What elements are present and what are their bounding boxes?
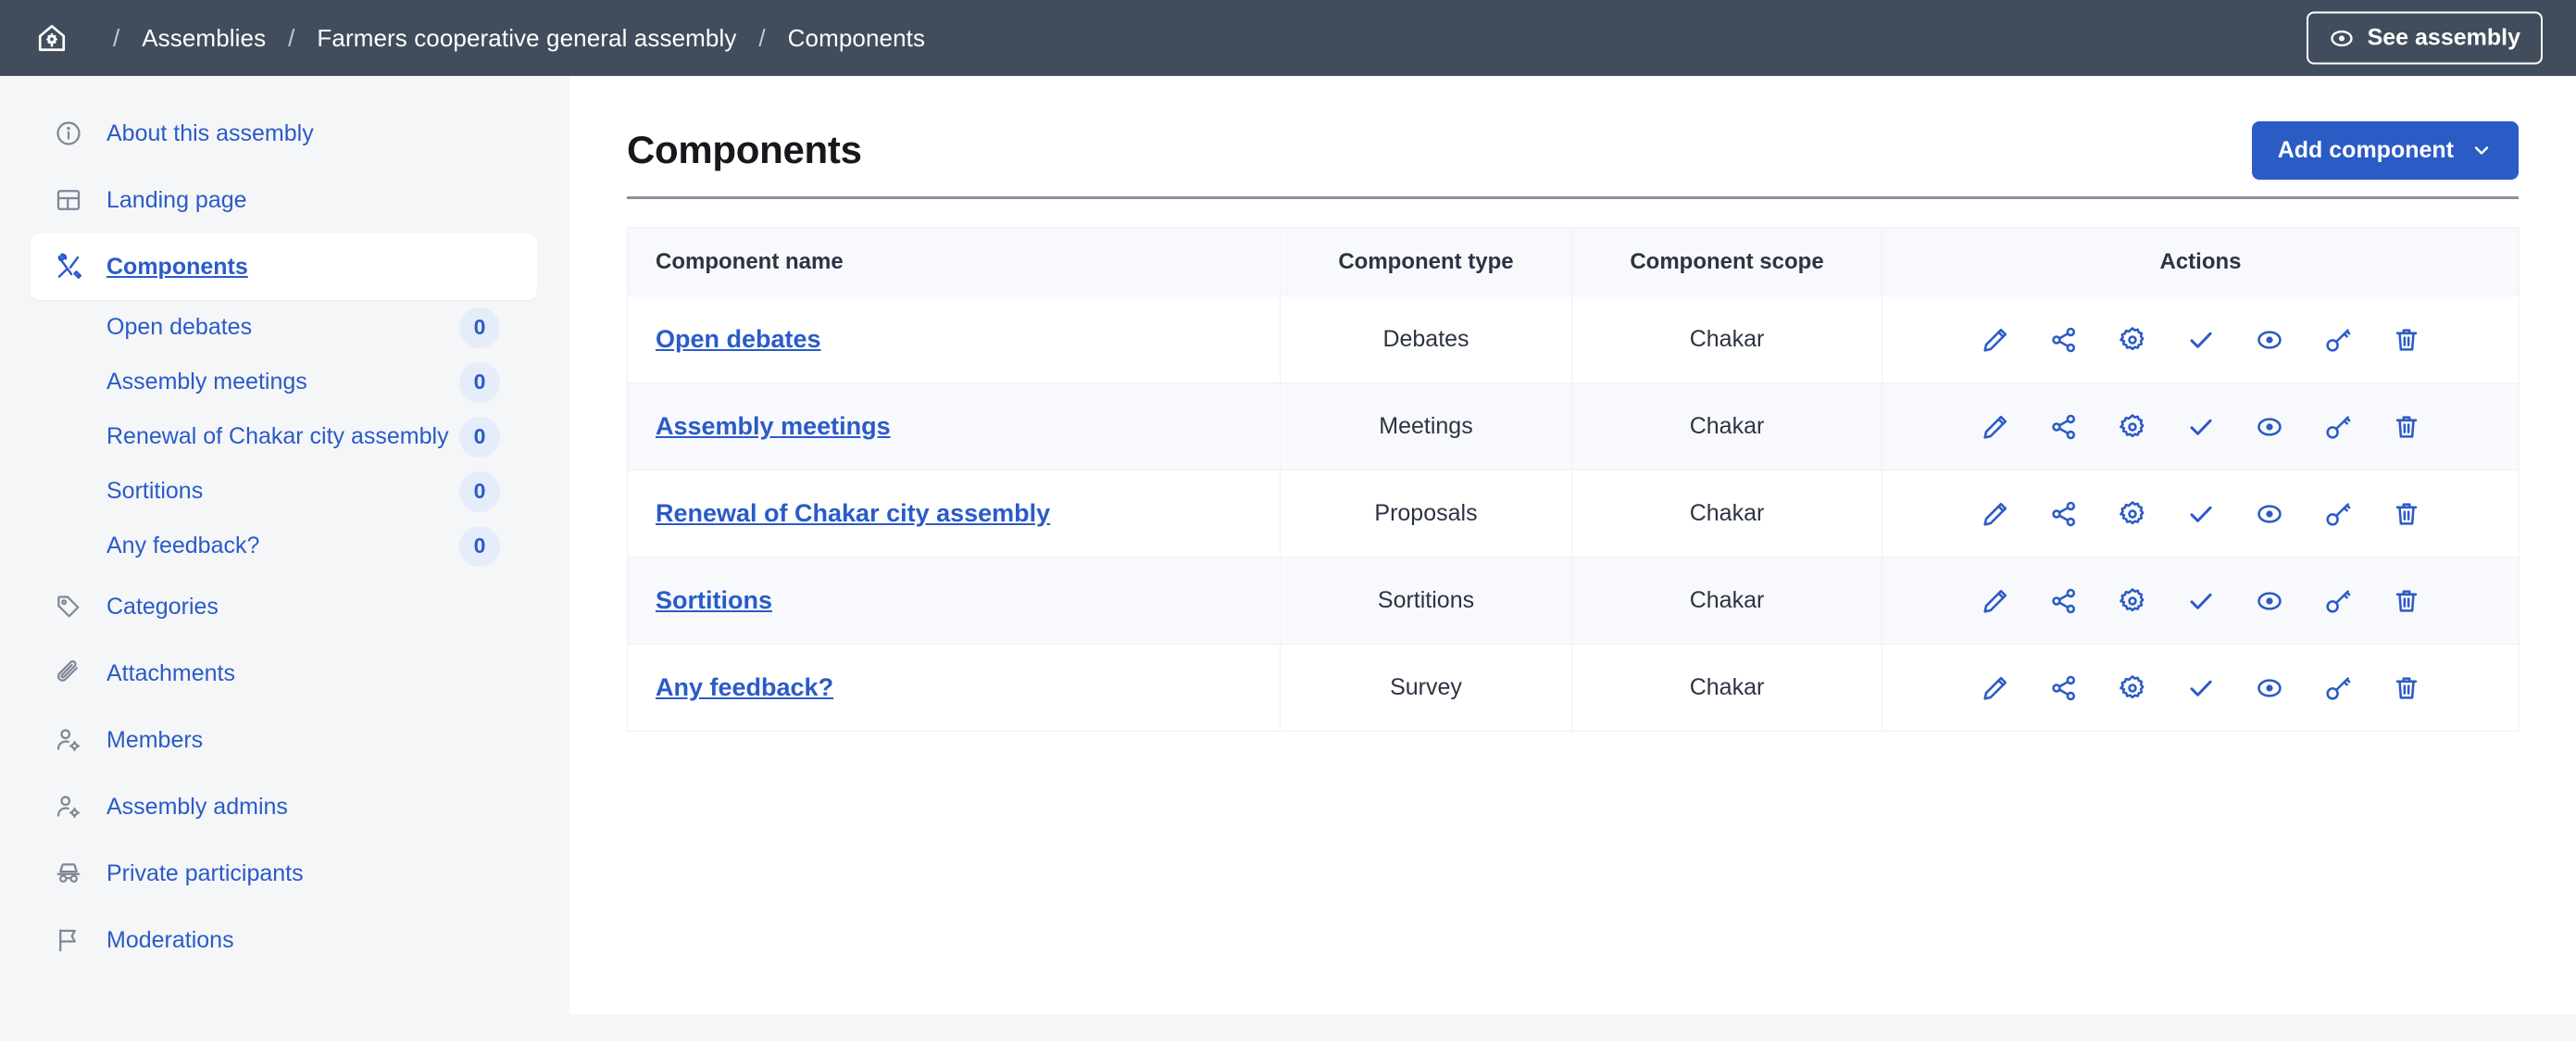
table-header-row: Component name Component type Component … (628, 228, 2520, 296)
chevron-down-icon (2470, 139, 2493, 161)
gear-icon[interactable] (2114, 495, 2151, 533)
eye-icon (2329, 25, 2355, 51)
table-body: Open debatesDebatesChakarAssembly meetin… (628, 296, 2520, 732)
cell-actions (1882, 558, 2520, 645)
table-row: Open debatesDebatesChakar (628, 296, 2520, 383)
gear-icon[interactable] (2114, 670, 2151, 707)
sidebar-subitem-label: Open debates (106, 314, 252, 341)
cell-actions (1882, 296, 2520, 383)
sidebar-subitem-count: 0 (459, 417, 500, 458)
column-header-actions: Actions (1882, 228, 2520, 296)
sidebar-subitem-label: Any feedback? (106, 533, 259, 559)
top-bar: / Assemblies / Farmers cooperative gener… (0, 0, 2576, 76)
pencil-icon[interactable] (1977, 408, 2014, 445)
page-title: Components (627, 128, 862, 172)
key-icon[interactable] (2320, 321, 2357, 358)
table-row: SortitionsSortitionsChakar (628, 558, 2520, 645)
action-buttons (1882, 383, 2519, 470)
sidebar-subitem-label: Assembly meetings (106, 369, 307, 395)
pencil-icon[interactable] (1977, 583, 2014, 620)
component-name-link[interactable]: Any feedback? (656, 673, 833, 701)
column-header-component-type: Component type (1281, 228, 1572, 296)
share-icon[interactable] (2045, 495, 2082, 533)
sidebar-item-about-this-assembly[interactable]: About this assembly (31, 100, 537, 167)
sidebar-item-label: Members (106, 727, 203, 754)
trash-icon[interactable] (2388, 670, 2425, 707)
trash-icon[interactable] (2388, 321, 2425, 358)
sidebar-item-categories[interactable]: Categories (31, 573, 537, 640)
cell-component-type: Sortitions (1281, 558, 1572, 645)
sidebar-item-label: Moderations (106, 927, 234, 954)
home-gear-icon[interactable] (33, 19, 70, 56)
sidebar-item-label: About this assembly (106, 120, 314, 147)
user-gear-icon (51, 789, 86, 824)
add-component-button[interactable]: Add component (2252, 121, 2519, 180)
table-row: Renewal of Chakar city assemblyProposals… (628, 470, 2520, 558)
cell-component-type: Proposals (1281, 470, 1572, 558)
tag-icon (51, 589, 86, 624)
sidebar-subitem-count: 0 (459, 471, 500, 512)
sidebar-subitem-count: 0 (459, 362, 500, 403)
check-icon[interactable] (2182, 495, 2220, 533)
sidebar-item-landing-page[interactable]: Landing page (31, 167, 537, 233)
cell-component-scope: Chakar (1572, 645, 1882, 732)
breadcrumb-components[interactable]: Components (788, 24, 925, 53)
sidebar-subitem-renewal-of-chakar-city-assembly[interactable]: Renewal of Chakar city assembly 0 (31, 409, 537, 464)
main-content: Components Add component Component name … (569, 76, 2576, 1014)
page-header: Components Add component (569, 76, 2576, 180)
trash-icon[interactable] (2388, 495, 2425, 533)
components-table: Component name Component type Component … (627, 227, 2520, 732)
share-icon[interactable] (2045, 670, 2082, 707)
sidebar-subitem-count: 0 (459, 307, 500, 348)
sidebar-subitem-sortitions[interactable]: Sortitions 0 (31, 464, 537, 519)
check-icon[interactable] (2182, 670, 2220, 707)
sidebar-item-label: Categories (106, 594, 219, 621)
gear-icon[interactable] (2114, 408, 2151, 445)
share-icon[interactable] (2045, 321, 2082, 358)
cell-actions (1882, 645, 2520, 732)
cell-component-name: Assembly meetings (628, 383, 1281, 470)
trash-icon[interactable] (2388, 583, 2425, 620)
sidebar-item-label: Components (106, 254, 248, 281)
cell-component-scope: Chakar (1572, 296, 1882, 383)
cell-actions (1882, 383, 2520, 470)
sidebar-item-label: Attachments (106, 660, 235, 687)
sidebar-item-private-participants[interactable]: Private participants (31, 840, 537, 907)
cell-component-scope: Chakar (1572, 558, 1882, 645)
cell-component-name: Any feedback? (628, 645, 1281, 732)
key-icon[interactable] (2320, 495, 2357, 533)
cell-component-name: Sortitions (628, 558, 1281, 645)
breadcrumb-separator-0: / (91, 24, 142, 53)
title-divider (627, 196, 2519, 199)
cell-component-type: Survey (1281, 645, 1572, 732)
eye-icon[interactable] (2251, 670, 2288, 707)
key-icon[interactable] (2320, 583, 2357, 620)
check-icon[interactable] (2182, 408, 2220, 445)
incognito-icon (51, 856, 86, 891)
add-component-label: Add component (2278, 137, 2454, 164)
action-buttons (1882, 470, 2519, 557)
trash-icon[interactable] (2388, 408, 2425, 445)
sidebar-item-label: Private participants (106, 860, 304, 887)
info-icon (51, 116, 86, 151)
check-icon[interactable] (2182, 583, 2220, 620)
sidebar-item-attachments[interactable]: Attachments (31, 640, 537, 707)
cell-component-scope: Chakar (1572, 470, 1882, 558)
component-name-link[interactable]: Assembly meetings (656, 412, 891, 440)
action-buttons (1882, 296, 2519, 383)
tools-icon (51, 249, 86, 284)
component-name-link[interactable]: Renewal of Chakar city assembly (656, 499, 1050, 527)
gear-icon[interactable] (2114, 583, 2151, 620)
cell-component-name: Open debates (628, 296, 1281, 383)
breadcrumb-assembly-name[interactable]: Farmers cooperative general assembly (317, 24, 736, 53)
gear-icon[interactable] (2114, 321, 2151, 358)
pencil-icon[interactable] (1977, 321, 2014, 358)
share-icon[interactable] (2045, 583, 2082, 620)
see-assembly-label: See assembly (2368, 25, 2520, 52)
sidebar-item-components[interactable]: Components (31, 233, 537, 300)
see-assembly-button[interactable]: See assembly (2307, 12, 2543, 65)
components-table-wrap: Component name Component type Component … (627, 227, 2519, 732)
key-icon[interactable] (2320, 670, 2357, 707)
cell-component-type: Meetings (1281, 383, 1572, 470)
sidebar-item-members[interactable]: Members (31, 707, 537, 773)
action-buttons (1882, 558, 2519, 644)
sidebar-item-moderations[interactable]: Moderations (31, 907, 537, 973)
sidebar-item-label: Assembly admins (106, 794, 288, 821)
sidebar-subitem-count: 0 (459, 526, 500, 567)
breadcrumb: / Assemblies / Farmers cooperative gener… (33, 19, 925, 56)
sidebar-item-label: Landing page (106, 187, 247, 214)
sidebar-subitem-assembly-meetings[interactable]: Assembly meetings 0 (31, 355, 537, 409)
sidebar-subitem-any-feedback[interactable]: Any feedback? 0 (31, 519, 537, 573)
pencil-icon[interactable] (1977, 495, 2014, 533)
check-icon[interactable] (2182, 321, 2220, 358)
column-header-component-name: Component name (628, 228, 1281, 296)
key-icon[interactable] (2320, 408, 2357, 445)
cell-actions (1882, 470, 2520, 558)
sidebar-subitem-open-debates[interactable]: Open debates 0 (31, 300, 537, 355)
component-name-link[interactable]: Sortitions (656, 586, 772, 614)
eye-icon[interactable] (2251, 321, 2288, 358)
component-name-link[interactable]: Open debates (656, 325, 821, 353)
action-buttons (1882, 645, 2519, 731)
pencil-icon[interactable] (1977, 670, 2014, 707)
eye-icon[interactable] (2251, 408, 2288, 445)
table-row: Any feedback?SurveyChakar (628, 645, 2520, 732)
layout-icon (51, 182, 86, 218)
cell-component-scope: Chakar (1572, 383, 1882, 470)
breadcrumb-separator-2: / (736, 24, 787, 53)
paperclip-icon (51, 656, 86, 691)
eye-icon[interactable] (2251, 495, 2288, 533)
eye-icon[interactable] (2251, 583, 2288, 620)
table-row: Assembly meetingsMeetingsChakar (628, 383, 2520, 470)
sidebar-subitem-label: Sortitions (106, 478, 203, 505)
flag-icon (51, 922, 86, 958)
cell-component-name: Renewal of Chakar city assembly (628, 470, 1281, 558)
column-header-component-scope: Component scope (1572, 228, 1882, 296)
sidebar-item-assembly-admins[interactable]: Assembly admins (31, 773, 537, 840)
user-gear-icon (51, 722, 86, 758)
sidebar: About this assembly Landing page Compone… (0, 76, 568, 1041)
sidebar-subitem-label: Renewal of Chakar city assembly (106, 423, 449, 450)
share-icon[interactable] (2045, 408, 2082, 445)
cell-component-type: Debates (1281, 296, 1572, 383)
breadcrumb-separator-1: / (266, 24, 317, 53)
breadcrumb-assemblies[interactable]: Assemblies (142, 24, 266, 53)
